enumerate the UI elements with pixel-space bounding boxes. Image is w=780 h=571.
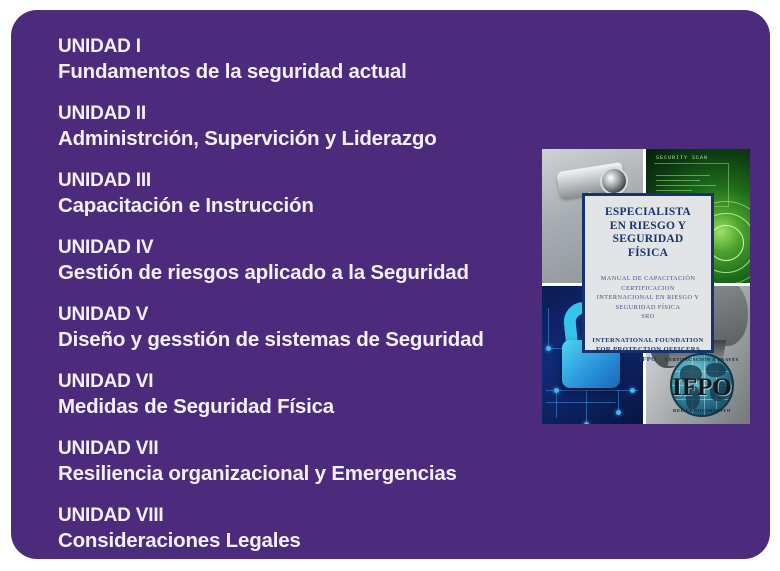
unit-number: UNIDAD II xyxy=(58,101,528,126)
unit-title: Diseño y gesstión de sistemas de Segurid… xyxy=(58,327,528,352)
unit-block-5: UNIDAD V Diseño y gesstión de sistemas d… xyxy=(58,302,528,352)
cover-subtitle-line-3: INTERNACIONAL EN RIESGO Y xyxy=(591,293,705,303)
unit-number: UNIDAD IV xyxy=(58,235,528,260)
unit-block-1: UNIDAD I Fundamentos de la seguridad act… xyxy=(58,34,528,84)
unit-number: UNIDAD V xyxy=(58,302,528,327)
cover-subtitle-line-2: CERTIFICACION xyxy=(591,284,705,294)
unit-block-7: UNIDAD VII Resiliencia organizacional y … xyxy=(58,436,528,486)
cover-title-line-2: EN RIESGO Y xyxy=(591,220,705,234)
unit-title: Resiliencia organizacional y Emergencias xyxy=(58,461,528,486)
cover-subtitle-block: MANUAL DE CAPACITACIÓN CERTIFICACION INT… xyxy=(591,274,705,322)
unit-block-6: UNIDAD VI Medidas de Seguridad Física xyxy=(58,369,528,419)
unit-title: Capacitación e Instrucción xyxy=(58,193,528,218)
cover-org-line-2: FOR PROTECTION OFFICERS xyxy=(591,345,705,355)
ifpo-wordmark: IFPO xyxy=(664,375,740,400)
cover-subtitle-line-1: MANUAL DE CAPACITACIÓN xyxy=(591,274,705,284)
unit-number: UNIDAD I xyxy=(58,34,528,59)
cover-subtitle-line-5: SRO xyxy=(591,312,705,322)
unit-number: UNIDAD VIII xyxy=(58,503,528,528)
unit-block-2: UNIDAD II Administrción, Supervición y L… xyxy=(58,101,528,151)
cover-organization-block: INTERNATIONAL FOUNDATION FOR PROTECTION … xyxy=(591,336,705,365)
cover-title-line-1: ESPECIALISTA xyxy=(591,206,705,220)
unit-number: UNIDAD VII xyxy=(58,436,528,461)
slide-root: UNIDAD I Fundamentos de la seguridad act… xyxy=(0,0,780,571)
syllabus-card: UNIDAD I Fundamentos de la seguridad act… xyxy=(11,10,770,559)
unit-block-4: UNIDAD IV Gestión de riesgos aplicado a … xyxy=(58,235,528,285)
unit-title: Gestión de riesgos aplicado a la Segurid… xyxy=(58,260,528,285)
unit-number: UNIDAD III xyxy=(58,168,528,193)
ifpo-arc-bottom-text: DEL CONOCIMIENTO xyxy=(664,408,740,413)
cover-title-line-3: SEGURIDAD FÍSICA xyxy=(591,233,705,260)
unit-title: Medidas de Seguridad Física xyxy=(58,394,528,419)
cover-org-line-3: IFPO xyxy=(591,355,705,365)
unit-title: Administrción, Supervición y Liderazgo xyxy=(58,126,528,151)
cover-org-line-1: INTERNATIONAL FOUNDATION xyxy=(591,336,705,346)
unit-title: Consideraciones Legales xyxy=(58,528,528,553)
unit-block-3: UNIDAD III Capacitación e Instrucción xyxy=(58,168,528,218)
book-cover-title-panel: ESPECIALISTA EN RIESGO Y SEGURIDAD FÍSIC… xyxy=(582,193,714,353)
unit-block-8: UNIDAD VIII Consideraciones Legales xyxy=(58,503,528,553)
book-cover-image: SECURITY SCAN xyxy=(542,149,750,424)
unit-title: Fundamentos de la seguridad actual xyxy=(58,59,528,84)
unit-number: UNIDAD VI xyxy=(58,369,528,394)
cover-subtitle-line-4: SEGURIDAD FÍSICA xyxy=(591,303,705,313)
unit-list: UNIDAD I Fundamentos de la seguridad act… xyxy=(58,34,528,553)
eye-hud-label: SECURITY SCAN xyxy=(656,155,708,161)
